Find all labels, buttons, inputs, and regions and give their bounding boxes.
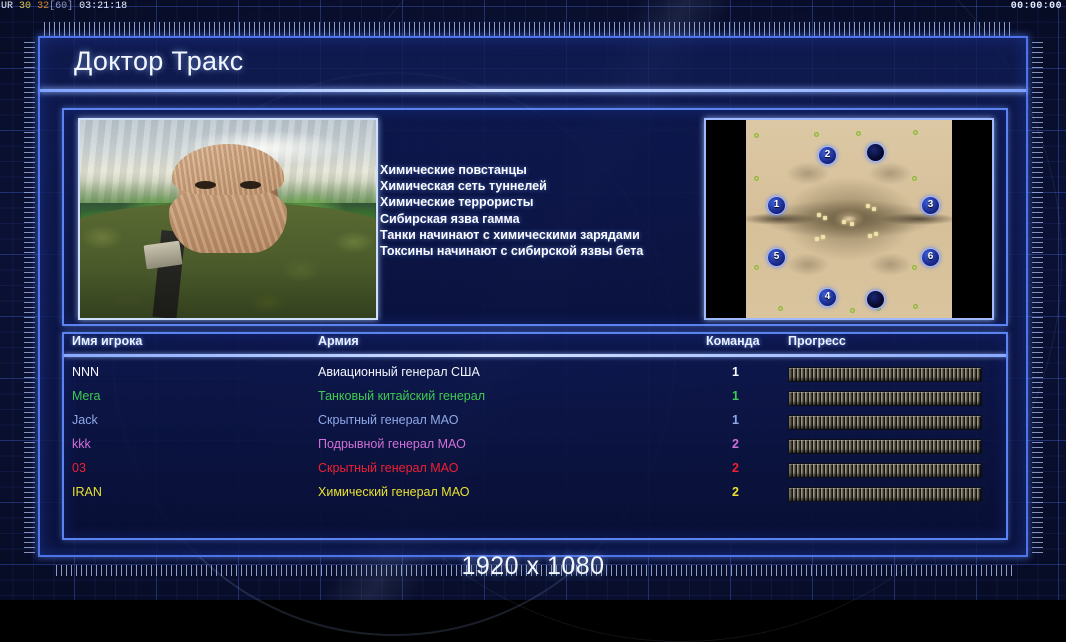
- minimap-start-position-5[interactable]: 5: [767, 248, 786, 267]
- minimap-oil-derrick: [778, 306, 783, 311]
- player-row: MeraТанковый китайский генерал1: [64, 386, 1006, 410]
- player-list-panel: Имя игрока Армия Команда Прогресс NNNАви…: [62, 332, 1008, 540]
- minimap-start-position-empty[interactable]: [866, 143, 885, 162]
- minimap-tech-structure: [868, 234, 872, 238]
- player-name: Jack: [72, 413, 98, 427]
- player-team: 2: [732, 485, 739, 499]
- minimap-tech-structure: [866, 204, 870, 208]
- minimap-start-position-6[interactable]: 6: [921, 248, 940, 267]
- minimap-oil-derrick: [856, 131, 861, 136]
- player-army: Подрывной генерал МАО: [318, 437, 466, 451]
- player-progress-bar: [788, 487, 982, 502]
- title-bar: Доктор Тракс: [38, 36, 1028, 92]
- minimap-tech-structure: [817, 213, 821, 217]
- player-progress-bar: [788, 439, 982, 454]
- portrait-face-scarf: [169, 185, 287, 252]
- player-name: 03: [72, 461, 86, 475]
- minimap-oil-derrick: [754, 265, 759, 270]
- player-name: IRAN: [72, 485, 102, 499]
- ruler-top: [44, 22, 1014, 36]
- general-ability-list: Химические повстанцы Химическая сеть тун…: [380, 162, 710, 259]
- status-clock-right: 00:00:00: [1011, 0, 1062, 13]
- minimap-terrain: [746, 120, 952, 318]
- minimap-start-position-empty[interactable]: [866, 290, 885, 309]
- status-clock-left: 03:21:18: [79, 1, 127, 12]
- player-army: Скрытный генерал МАО: [318, 413, 458, 427]
- player-team: 2: [732, 437, 739, 451]
- player-army: Химический генерал МАО: [318, 485, 469, 499]
- ability-line: Танки начинают с химическими зарядами: [380, 227, 710, 243]
- minimap-preview: 123456: [704, 118, 994, 320]
- ruler-left: [24, 42, 35, 554]
- minimap-tech-structure: [815, 237, 819, 241]
- player-row: kkkПодрывной генерал МАО2: [64, 434, 1006, 458]
- page-title: Доктор Тракс: [74, 46, 244, 77]
- status-bracket: [60]: [49, 1, 73, 12]
- player-row: IRANХимический генерал МАО2: [64, 482, 1006, 506]
- player-army: Авиационный генерал США: [318, 365, 480, 379]
- minimap-tech-structure: [872, 207, 876, 211]
- player-progress-bar: [788, 415, 982, 430]
- player-progress-bar: [788, 391, 982, 406]
- status-value-2: 32: [37, 1, 49, 12]
- status-prefix: UR: [1, 1, 13, 12]
- player-team: 1: [732, 365, 739, 379]
- resolution-label: 1920 x 1080: [0, 552, 1066, 581]
- ability-line: Химические повстанцы: [380, 162, 710, 178]
- player-progress-bar: [788, 367, 982, 382]
- title-underline: [40, 89, 1026, 92]
- ability-line: Химические террористы: [380, 194, 710, 210]
- player-list-header: Имя игрока Армия Команда Прогресс: [64, 334, 1006, 354]
- player-team: 1: [732, 413, 739, 427]
- status-bar: UR 30 32[60] 03:21:18 00:00:00: [0, 0, 1066, 13]
- player-team: 2: [732, 461, 739, 475]
- minimap-oil-derrick: [754, 176, 759, 181]
- column-header-army: Армия: [318, 334, 359, 348]
- minimap-tech-structure: [842, 220, 846, 224]
- status-bar-left: UR 30 32[60] 03:21:18: [1, 0, 127, 13]
- info-panel: Химические повстанцы Химическая сеть тун…: [62, 108, 1008, 326]
- ruler-right: [1032, 42, 1043, 554]
- column-header-name: Имя игрока: [72, 334, 142, 348]
- general-portrait: [78, 118, 378, 320]
- column-header-progress: Прогресс: [788, 334, 846, 348]
- header-underline: [64, 354, 1006, 357]
- minimap-oil-derrick: [913, 130, 918, 135]
- ability-line: Сибирская язва гамма: [380, 211, 710, 227]
- minimap-tech-structure: [823, 216, 827, 220]
- ability-line: Токсины начинают с сибирской язвы бета: [380, 243, 710, 259]
- player-name: NNN: [72, 365, 99, 379]
- minimap-oil-derrick: [814, 132, 819, 137]
- minimap-start-position-3[interactable]: 3: [921, 196, 940, 215]
- player-row: 03Скрытный генерал МАО2: [64, 458, 1006, 482]
- minimap-start-position-2[interactable]: 2: [818, 146, 837, 165]
- minimap-tech-structure: [821, 235, 825, 239]
- status-value-1: 30: [19, 1, 31, 12]
- player-name: Mera: [72, 389, 100, 403]
- portrait-pouch: [144, 240, 182, 268]
- minimap-start-position-1[interactable]: 1: [767, 196, 786, 215]
- player-army: Танковый китайский генерал: [318, 389, 485, 403]
- minimap-oil-derrick: [754, 133, 759, 138]
- minimap-oil-derrick: [913, 304, 918, 309]
- minimap-oil-derrick: [912, 176, 917, 181]
- player-army: Скрытный генерал МАО: [318, 461, 458, 475]
- column-header-team: Команда: [706, 334, 760, 348]
- minimap-tech-structure: [874, 232, 878, 236]
- loading-screen-window: Доктор Тракс Химические повстанцы Химиче…: [38, 36, 1028, 557]
- minimap-tech-structure: [850, 222, 854, 226]
- minimap-oil-derrick: [850, 308, 855, 313]
- ability-line: Химическая сеть туннелей: [380, 178, 710, 194]
- player-progress-bar: [788, 463, 982, 478]
- minimap-start-position-4[interactable]: 4: [818, 288, 837, 307]
- minimap-oil-derrick: [912, 265, 917, 270]
- player-row: JackСкрытный генерал МАО1: [64, 410, 1006, 434]
- player-name: kkk: [72, 437, 91, 451]
- player-row: NNNАвиационный генерал США1: [64, 362, 1006, 386]
- player-team: 1: [732, 389, 739, 403]
